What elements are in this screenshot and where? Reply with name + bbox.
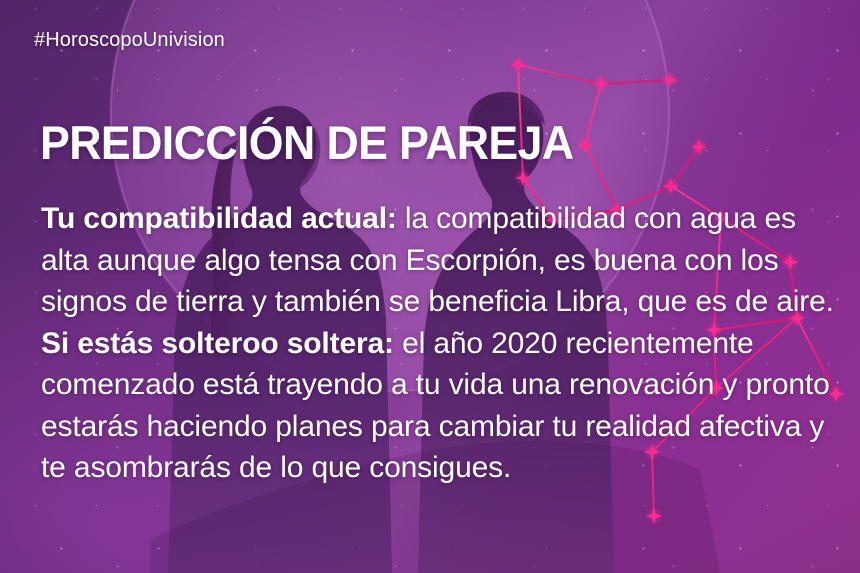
horoscope-card: #HoroscopoUnivision PREDICCIÓN DE PAREJA… <box>0 0 860 573</box>
paragraph-compatibility-lead: Tu compatibilidad actual: <box>41 202 397 235</box>
hashtag-label: #HoroscopoUnivision <box>34 29 225 52</box>
horoscope-body: Tu compatibilidad actual: la compatibili… <box>41 198 841 489</box>
paragraph-single-lead: Si estás solteroo soltera: <box>41 327 394 360</box>
paragraph-compatibility: Tu compatibilidad actual: la compatibili… <box>41 198 841 323</box>
page-title: PREDICCIÓN DE PAREJA <box>40 119 574 166</box>
card-content: #HoroscopoUnivision PREDICCIÓN DE PAREJA… <box>0 0 860 573</box>
paragraph-single: Si estás solteroo soltera: el año 2020 r… <box>41 323 841 489</box>
